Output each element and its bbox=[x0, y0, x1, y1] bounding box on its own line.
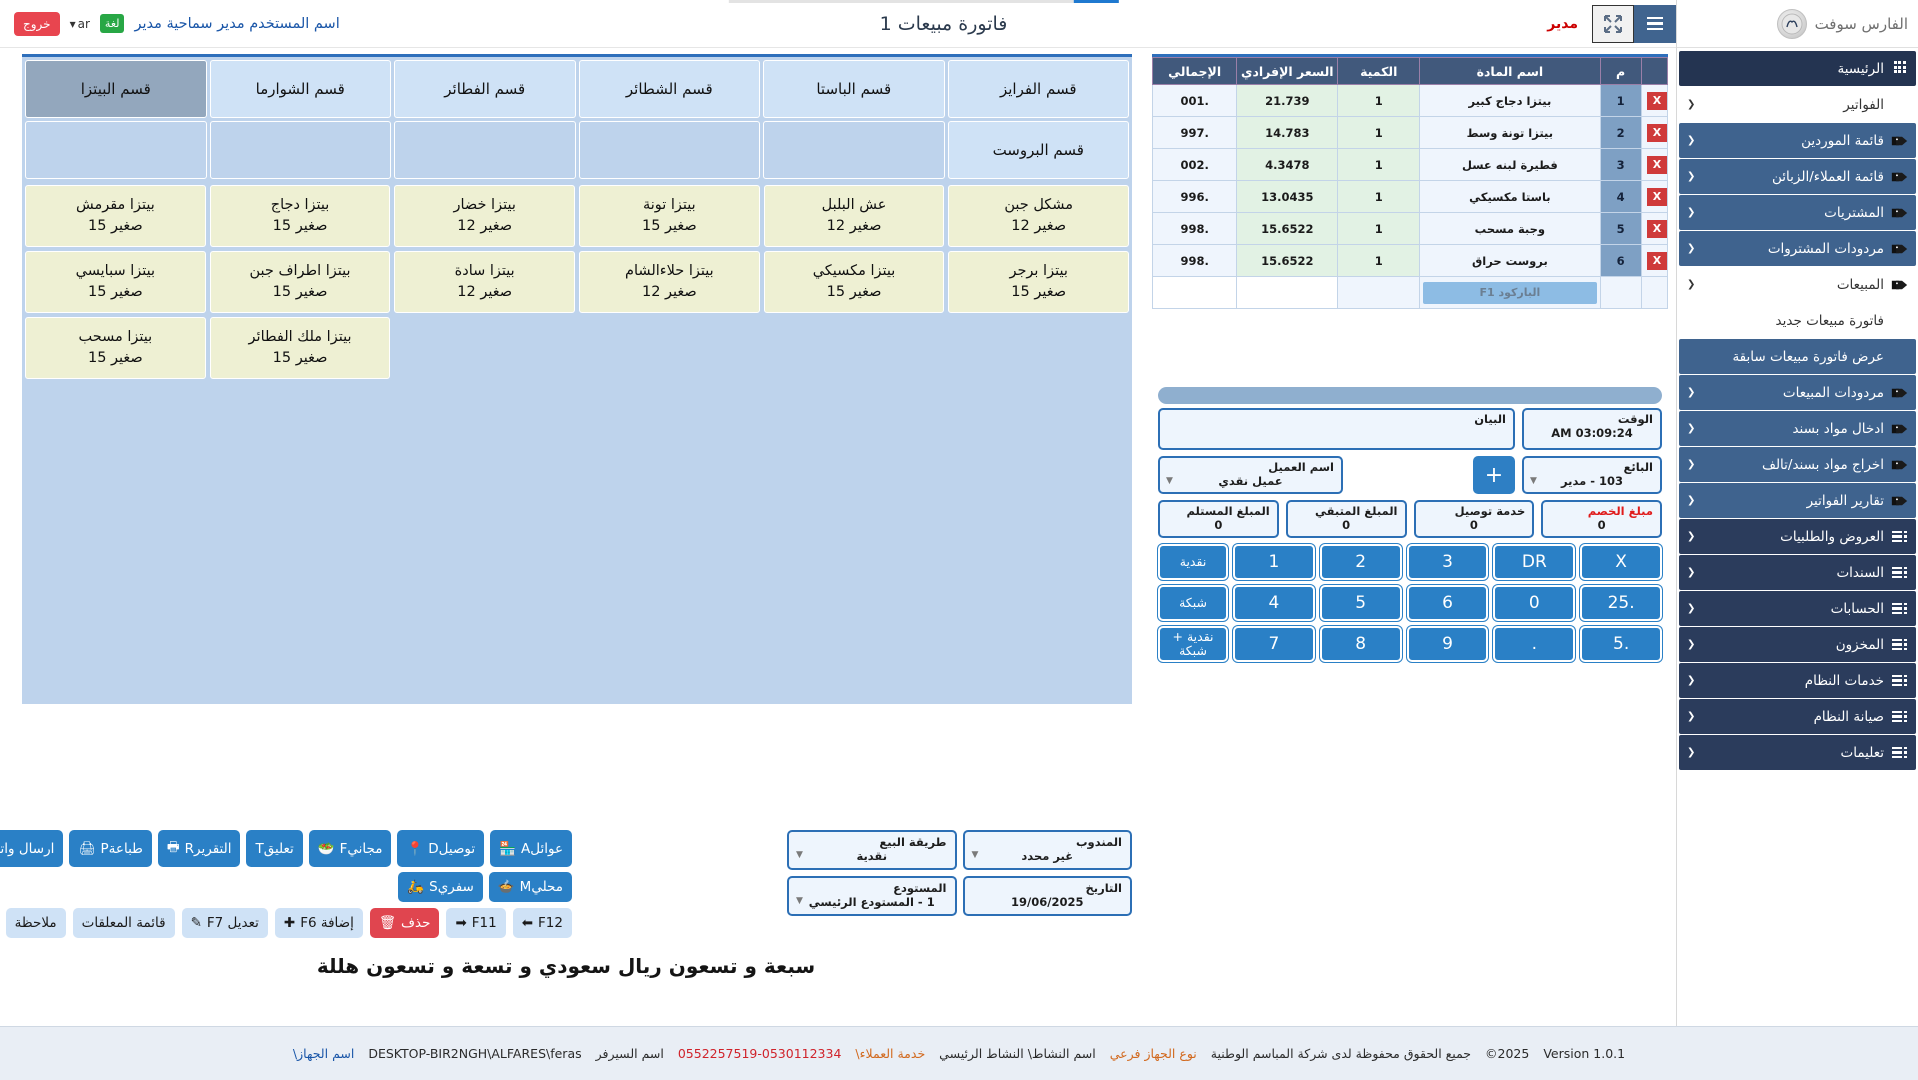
category-button-3[interactable]: قسم الفطائر bbox=[394, 60, 576, 118]
chevron-left-icon: ❮ bbox=[1687, 135, 1695, 146]
product-size: صغير 12 bbox=[457, 282, 512, 303]
product-name: بيتزا حلاءالشام bbox=[625, 261, 714, 282]
sidebar-item-label: الحسابات bbox=[1702, 601, 1884, 617]
action-button-5[interactable]: طباعةP🖨 bbox=[69, 830, 152, 867]
sidebar-item-label: السندات bbox=[1702, 565, 1884, 581]
action-label: التقريرR bbox=[185, 841, 232, 857]
action-row-secondary: محليM🍲سفريS🛵 bbox=[0, 872, 572, 902]
table-row[interactable]: X5وجبة مسحب115.6522.998 bbox=[1153, 213, 1668, 245]
tag-icon bbox=[1891, 205, 1908, 220]
cell-index: 3 bbox=[1600, 149, 1641, 181]
product-button-17[interactable]: بيتزا مسحبصغير 15 bbox=[25, 317, 206, 379]
page-title-text: فاتورة مبيعات 1 bbox=[880, 13, 1008, 35]
customer-label: اسم العميل bbox=[1167, 460, 1334, 474]
product-button-4[interactable]: بيتزا دجاجصغير 15 bbox=[210, 185, 391, 247]
no-icon bbox=[1891, 349, 1908, 364]
role-badge: مدير bbox=[1547, 16, 1578, 32]
delete-row-button[interactable]: X bbox=[1647, 252, 1667, 270]
remaining-label: المبلغ المتبقي bbox=[1295, 504, 1398, 518]
cell-qty: 1 bbox=[1338, 245, 1420, 277]
chevron-left-icon: ❮ bbox=[1687, 171, 1695, 182]
cell-total: .996 bbox=[1153, 181, 1237, 213]
action-label: حذف bbox=[401, 915, 430, 931]
product-grid: مشكل جبنصغير 12عش البلبلصغير 12بيتزا تون… bbox=[22, 182, 1132, 382]
keypad-key-1[interactable]: 1 bbox=[1233, 544, 1315, 580]
delivery-value: 0 bbox=[1423, 518, 1526, 533]
title-underline bbox=[729, 0, 1119, 3]
function-button-1[interactable]: F11➡ bbox=[446, 908, 505, 938]
footer-device-type: نوع الجهاز فرعي bbox=[1110, 1046, 1197, 1061]
product-size: صغير 15 bbox=[273, 348, 328, 369]
seller-customer-row: البائع 103 - مدير ▼ + اسم العميل عميل نق… bbox=[1158, 456, 1662, 494]
action-label: توصيلD bbox=[428, 841, 475, 857]
sidebar-item-3[interactable]: قائمة العملاء/الزبائن❮ bbox=[1679, 159, 1916, 194]
chevron-left-icon: ❮ bbox=[1687, 207, 1695, 218]
sidebar-item-13[interactable]: العروض والطلبيات❮ bbox=[1679, 519, 1916, 554]
keypad-key-0[interactable]: 0 bbox=[1493, 585, 1575, 621]
pos-application: مدير فاتورة مبيعات 1 اسم المستخدم مدير س… bbox=[0, 0, 1918, 1080]
sidebar-item-7[interactable]: فاتورة مبيعات جديد bbox=[1679, 303, 1916, 338]
action-button-4[interactable]: التقريرR🖶 bbox=[158, 830, 241, 867]
payment-mode-button-1[interactable]: شبكة bbox=[1158, 585, 1228, 621]
header-user-area: اسم المستخدم مدير سماحية مدير لغة ar ▾ خ… bbox=[0, 12, 340, 36]
expand-icon[interactable] bbox=[1592, 5, 1634, 43]
statement-time-row: الوقت AM 03:09:24 البيان bbox=[1158, 408, 1662, 450]
product-button-6[interactable]: بيتزا برجرصغير 15 bbox=[948, 251, 1129, 313]
dine-in-icon: 🍲 bbox=[498, 879, 515, 895]
cell-unit-price: 15.6522 bbox=[1237, 245, 1338, 277]
cell-item-name: باستا مكسيكي bbox=[1420, 181, 1600, 213]
function-button-4[interactable]: تعديل F7✎ bbox=[182, 908, 268, 938]
product-size: صغير 12 bbox=[457, 216, 512, 237]
table-row[interactable]: X4باستا مكسيكي113.0435.996 bbox=[1153, 181, 1668, 213]
keypad-key-6[interactable]: 6 bbox=[1407, 585, 1489, 621]
delete-cell: X bbox=[1641, 181, 1667, 213]
sidebar-item-label: المخزون bbox=[1702, 637, 1884, 653]
barcode-qty-cell bbox=[1338, 277, 1420, 309]
keypad-row-0: XDR321نقدية bbox=[1158, 544, 1662, 580]
sidebar-item-12[interactable]: تقارير الفواتير❮ bbox=[1679, 483, 1916, 518]
footer-copyright: جميع الحقوق محفوظة لدى شركة المباسم الوط… bbox=[1211, 1046, 1471, 1061]
cell-index: 4 bbox=[1600, 181, 1641, 213]
cell-item-name: بروست حراق bbox=[1420, 245, 1600, 277]
sidebar-item-17[interactable]: خدمات النظام❮ bbox=[1679, 663, 1916, 698]
keypad-key-7[interactable]: 7 bbox=[1233, 626, 1315, 662]
barcode-total-cell bbox=[1153, 277, 1237, 309]
print-icon: 🖨 bbox=[78, 841, 95, 857]
delivery-label: خدمة توصيل bbox=[1423, 504, 1526, 518]
cell-qty: 1 bbox=[1338, 181, 1420, 213]
category-tabs-row1: قسم الفرايزقسم الباستاقسم الشطائرقسم الف… bbox=[22, 57, 1132, 121]
date-field[interactable]: التاريخ 19/06/2025 bbox=[963, 876, 1133, 916]
product-name: بيتزا اطراف جبن bbox=[249, 261, 350, 282]
category-filler bbox=[394, 121, 576, 179]
product-size: صغير 15 bbox=[1011, 282, 1066, 303]
delete-cell: X bbox=[1641, 85, 1667, 117]
sidebar-item-5[interactable]: مردودات المشتروات❮ bbox=[1679, 231, 1916, 266]
category-filler bbox=[210, 121, 392, 179]
rep-value: غير محدد bbox=[973, 849, 1123, 863]
table-row[interactable]: X1بيتزا دجاج كبير121.739.001 bbox=[1153, 85, 1668, 117]
customer-value: عميل نقدي bbox=[1167, 474, 1334, 489]
product-name: مشكل جبن bbox=[1004, 195, 1073, 216]
payment-mode-button-2[interactable]: نقدية + شبكة bbox=[1158, 626, 1228, 662]
sidebar-item-15[interactable]: الحسابات❮ bbox=[1679, 591, 1916, 626]
date-label: التاريخ bbox=[973, 881, 1123, 895]
keypad-key-3[interactable]: 3 bbox=[1407, 544, 1489, 580]
sale-method-select[interactable]: طريقة البيع نقدية ▼ bbox=[787, 830, 957, 870]
bottom-toolbar-zone: المندوب غير محدد ▼ طريقة البيع نقدية ▼ ا… bbox=[0, 826, 1132, 1026]
keypad-key-2[interactable]: 2 bbox=[1320, 544, 1402, 580]
product-size: صغير 15 bbox=[88, 216, 143, 237]
category-filler bbox=[579, 121, 761, 179]
product-name: بيتزا دجاج bbox=[271, 195, 330, 216]
keypad-key-8[interactable]: 8 bbox=[1320, 626, 1402, 662]
product-size: صغير 12 bbox=[1011, 216, 1066, 237]
product-button-7[interactable]: بيتزا مكسيكيصغير 15 bbox=[764, 251, 945, 313]
chevron-down-icon: ▼ bbox=[1530, 476, 1537, 486]
cell-unit-price: 14.783 bbox=[1237, 117, 1338, 149]
payment-mode-button-0[interactable]: نقدية bbox=[1158, 544, 1228, 580]
keypad-key-.[interactable]: . bbox=[1493, 626, 1575, 662]
sidebar-item-label: المشتريات bbox=[1702, 205, 1884, 221]
th-item-name: اسم المادة bbox=[1420, 58, 1600, 85]
cell-unit-price: 15.6522 bbox=[1237, 213, 1338, 245]
discount-field[interactable]: مبلغ الخصم 0 bbox=[1541, 500, 1662, 538]
family-icon: 🏪 bbox=[499, 841, 516, 857]
table-row[interactable]: X3فطيرة لبنه عسل14.3478.002 bbox=[1153, 149, 1668, 181]
sale-method-rep-row: المندوب غير محدد ▼ طريقة البيع نقدية ▼ bbox=[787, 830, 1132, 876]
action-label: تعليقT bbox=[255, 841, 293, 857]
received-field[interactable]: المبلغ المستلم 0 bbox=[1158, 500, 1279, 538]
edit-icon: ✎ bbox=[191, 915, 202, 931]
invoice-items-table: م اسم المادة الكمية السعر الإفرادي الإجم… bbox=[1152, 57, 1668, 309]
action-label: محليM bbox=[520, 879, 563, 895]
statement-field[interactable]: البيان bbox=[1158, 408, 1515, 450]
warehouse-select[interactable]: المستودع 1 - المستودع الرئيسي ▼ bbox=[787, 876, 957, 916]
chevron-left-icon: ❮ bbox=[1687, 747, 1695, 758]
keypad-key-9[interactable]: 9 bbox=[1407, 626, 1489, 662]
cell-unit-price: 4.3478 bbox=[1237, 149, 1338, 181]
function-key-row: F12⬅F11➡حذف🗑إضافة F6✚تعديل F7✎قائمة المع… bbox=[0, 908, 572, 938]
statement-label: البيان bbox=[1167, 412, 1506, 426]
action-label: سفريS bbox=[429, 879, 474, 895]
sidebar-item-16[interactable]: المخزون❮ bbox=[1679, 627, 1916, 662]
category-filler bbox=[763, 121, 945, 179]
chevron-left-icon: ❮ bbox=[1687, 495, 1695, 506]
sidebar-item-6[interactable]: المبيعات❮ bbox=[1679, 267, 1916, 302]
invoice-settings-form: المندوب غير محدد ▼ طريقة البيع نقدية ▼ ا… bbox=[787, 830, 1132, 922]
list-icon bbox=[1891, 637, 1908, 652]
action-label: ارسال واتساب bbox=[0, 841, 54, 857]
product-name: بيتزا تونة bbox=[643, 195, 696, 216]
cell-item-name: بيتزا تونة وسط bbox=[1420, 117, 1600, 149]
seller-value: 103 - مدير bbox=[1531, 474, 1653, 489]
top-header-bar: مدير فاتورة مبيعات 1 اسم المستخدم مدير س… bbox=[0, 0, 1676, 48]
product-size: صغير 12 bbox=[642, 282, 697, 303]
seller-label: البائع bbox=[1531, 460, 1653, 474]
product-button-2[interactable]: بيتزا تونةصغير 15 bbox=[579, 185, 760, 247]
cell-index: 2 bbox=[1600, 117, 1641, 149]
action-label: ملاحظة bbox=[15, 915, 57, 931]
barcode-input-cell[interactable]: الباركود F1 bbox=[1420, 277, 1600, 309]
customer-select[interactable]: اسم العميل عميل نقدي ▼ bbox=[1158, 456, 1343, 494]
action-button-3[interactable]: تعليقT bbox=[246, 830, 302, 867]
keypad-key-.5[interactable]: .5 bbox=[1580, 626, 1662, 662]
keypad-key-X[interactable]: X bbox=[1580, 544, 1662, 580]
table-row[interactable]: X2بيتزا تونة وسط114.783.997 bbox=[1153, 117, 1668, 149]
keypad-row-2: .5.987نقدية + شبكة bbox=[1158, 626, 1662, 662]
th-index: م bbox=[1600, 58, 1641, 85]
product-name: بيتزا سبايسي bbox=[76, 261, 155, 282]
brand-header: الفارس سوفت bbox=[1677, 0, 1918, 48]
cell-total: .998 bbox=[1153, 245, 1237, 277]
category-button-2[interactable]: قسم الشطائر bbox=[579, 60, 761, 118]
received-label: المبلغ المستلم bbox=[1167, 504, 1270, 518]
footer-version-text: Version 1.0.1 bbox=[1543, 1046, 1625, 1061]
delete-row-button[interactable]: X bbox=[1647, 156, 1667, 174]
cell-qty: 1 bbox=[1338, 149, 1420, 181]
numeric-keypad: XDR321نقدية.250654شبكة.5.987نقدية + شبكة bbox=[1158, 544, 1662, 662]
barcode-spacer bbox=[1641, 277, 1667, 309]
product-name: بيتزا مقرمش bbox=[76, 195, 155, 216]
date-value: 19/06/2025 bbox=[973, 895, 1123, 909]
warehouse-label: المستودع bbox=[797, 881, 947, 895]
list-icon bbox=[1891, 745, 1908, 760]
chevron-left-icon: ❮ bbox=[1687, 387, 1695, 398]
remaining-field: المبلغ المتبقي 0 bbox=[1286, 500, 1407, 538]
chevron-left-icon: ❮ bbox=[1687, 603, 1695, 614]
category-button-6[interactable]: قسم البروست bbox=[948, 121, 1130, 179]
delete-row-button[interactable]: X bbox=[1647, 188, 1667, 206]
language-badge[interactable]: لغة bbox=[100, 14, 125, 33]
sidebar-item-14[interactable]: السندات❮ bbox=[1679, 555, 1916, 590]
sidebar: الفارس سوفت الرئيسيةالفواتير❮قائمة المور… bbox=[1676, 0, 1918, 1026]
tag-icon bbox=[1891, 457, 1908, 472]
sidebar-item-19[interactable]: تعليمات❮ bbox=[1679, 735, 1916, 770]
function-button-0[interactable]: F12⬅ bbox=[513, 908, 572, 938]
category-tabs-row2: قسم البروست bbox=[22, 121, 1132, 182]
keypad-key-DR[interactable]: DR bbox=[1493, 544, 1575, 580]
chevron-down-icon: ▼ bbox=[796, 896, 803, 906]
keypad-key-4[interactable]: 4 bbox=[1233, 585, 1315, 621]
tag-icon bbox=[1891, 493, 1908, 508]
barcode-price-cell bbox=[1237, 277, 1338, 309]
delete-row-button[interactable]: X bbox=[1647, 220, 1667, 238]
product-button-11[interactable]: بيتزا سبايسيصغير 15 bbox=[25, 251, 206, 313]
chevron-down-icon: ▼ bbox=[1166, 476, 1173, 486]
category-filler bbox=[25, 121, 207, 179]
th-qty: الكمية bbox=[1338, 58, 1420, 85]
keypad-key-5[interactable]: 5 bbox=[1320, 585, 1402, 621]
product-button-0[interactable]: مشكل جبنصغير 12 bbox=[948, 185, 1129, 247]
sidebar-item-label: خدمات النظام bbox=[1702, 673, 1884, 689]
sidebar-item-label: قائمة الموردين bbox=[1702, 133, 1884, 149]
chevron-down-icon: ▼ bbox=[972, 850, 979, 860]
chevron-down-icon: ▾ bbox=[70, 17, 76, 31]
sidebar-item-10[interactable]: ادخال مواد بسند❮ bbox=[1679, 411, 1916, 446]
discount-label: مبلغ الخصم bbox=[1550, 504, 1653, 518]
product-size: صغير 15 bbox=[273, 282, 328, 303]
product-name: بيتزا خضار bbox=[453, 195, 515, 216]
delete-row-button[interactable]: X bbox=[1647, 124, 1667, 142]
chevron-left-icon: ❮ bbox=[1687, 243, 1695, 254]
sidebar-item-label: العروض والطلبيات bbox=[1702, 529, 1884, 545]
product-button-1[interactable]: عش البلبلصغير 12 bbox=[764, 185, 945, 247]
sidebar-item-9[interactable]: مردودات المبيعات❮ bbox=[1679, 375, 1916, 410]
keypad-key-.25[interactable]: .25 bbox=[1580, 585, 1662, 621]
footer-server-label: اسم السيرفر bbox=[596, 1046, 664, 1061]
received-value: 0 bbox=[1167, 518, 1270, 533]
sidebar-item-1[interactable]: الفواتير❮ bbox=[1679, 87, 1916, 122]
function-button-3[interactable]: إضافة F6✚ bbox=[275, 908, 363, 938]
chevron-left-icon: ❮ bbox=[1687, 567, 1695, 578]
action-label: عوائلA bbox=[521, 841, 563, 857]
function-button-6[interactable]: ملاحظة bbox=[6, 908, 66, 938]
category-button-0[interactable]: قسم الفرايز bbox=[948, 60, 1130, 118]
sidebar-nav: الرئيسيةالفواتير❮قائمة الموردين❮قائمة ال… bbox=[1677, 48, 1918, 1026]
action-button-6[interactable]: ارسال واتساب🖨 bbox=[0, 830, 63, 867]
cell-total: .998 bbox=[1153, 213, 1237, 245]
function-button-2[interactable]: حذف🗑 bbox=[370, 908, 440, 938]
chevron-left-icon: ❮ bbox=[1687, 711, 1695, 722]
action-label: مجانيF bbox=[340, 841, 383, 857]
product-size: صغير 15 bbox=[88, 282, 143, 303]
order-type-button-0[interactable]: محليM🍲 bbox=[489, 872, 572, 902]
products-panel: قسم الفرايزقسم الباستاقسم الشطائرقسم الف… bbox=[22, 54, 1132, 704]
product-size: صغير 15 bbox=[88, 348, 143, 369]
action-row-primary: عوائلA🏪توصيلD📍مجانيF🥗تعليقTالتقريرR🖶طباع… bbox=[0, 830, 572, 867]
sidebar-item-label: ادخال مواد بسند bbox=[1702, 421, 1884, 437]
category-button-4[interactable]: قسم الشوارما bbox=[210, 60, 392, 118]
footer-support-label: خدمة العملاء\ bbox=[855, 1046, 925, 1061]
th-total: الإجمالي bbox=[1153, 58, 1237, 85]
menu-icon[interactable] bbox=[1634, 5, 1676, 43]
sidebar-item-label: عرض فاتورة مبيعات سابقة bbox=[1687, 349, 1884, 365]
action-label: F11 bbox=[472, 915, 497, 931]
chevron-left-icon: ❮ bbox=[1687, 531, 1695, 542]
plus-icon: ✚ bbox=[284, 915, 295, 931]
cell-qty: 1 bbox=[1338, 117, 1420, 149]
product-name: بيتزا ملك الفطائر bbox=[249, 327, 352, 348]
grid-icon bbox=[1891, 61, 1908, 76]
amount-in-words: سبعة و تسعون ريال سعودي و تسعة و تسعون ه… bbox=[0, 954, 1132, 978]
cell-unit-price: 13.0435 bbox=[1237, 181, 1338, 213]
table-row[interactable]: X6بروست حراق115.6522.998 bbox=[1153, 245, 1668, 277]
invoice-items-table-wrap: م اسم المادة الكمية السعر الإفرادي الإجم… bbox=[1152, 54, 1668, 309]
cell-index: 6 bbox=[1600, 245, 1641, 277]
barcode-entry-row[interactable]: الباركود F1 bbox=[1153, 277, 1668, 309]
footer-device-name: اسم الجهاز\ bbox=[293, 1046, 354, 1061]
product-button-10[interactable]: بيتزا اطراف جبنصغير 15 bbox=[210, 251, 391, 313]
rep-label: المندوب bbox=[973, 835, 1123, 849]
product-button-5[interactable]: بيتزا مقرمشصغير 15 bbox=[25, 185, 206, 247]
chevron-left-icon: ❮ bbox=[1687, 675, 1695, 686]
amounts-row: مبلغ الخصم 0 خدمة توصيل 0 المبلغ المتبقي… bbox=[1158, 500, 1662, 538]
sidebar-item-8[interactable]: عرض فاتورة مبيعات سابقة bbox=[1679, 339, 1916, 374]
delivery-field[interactable]: خدمة توصيل 0 bbox=[1414, 500, 1535, 538]
sidebar-item-label: الفواتير bbox=[1702, 97, 1884, 113]
action-button-1[interactable]: توصيلD📍 bbox=[397, 830, 484, 867]
sidebar-item-2[interactable]: قائمة الموردين❮ bbox=[1679, 123, 1916, 158]
takeaway-icon: 🛵 bbox=[407, 879, 424, 895]
product-name: عش البلبل bbox=[822, 195, 887, 216]
cell-index: 5 bbox=[1600, 213, 1641, 245]
action-label: قائمة المعلقات bbox=[82, 915, 166, 931]
product-name: بيتزا مكسيكي bbox=[813, 261, 896, 282]
sale-method-label: طريقة البيع bbox=[797, 835, 947, 849]
sidebar-item-0[interactable]: الرئيسية bbox=[1679, 51, 1916, 86]
brand-logo-icon bbox=[1777, 9, 1807, 39]
product-button-9[interactable]: بيتزا سادةصغير 12 bbox=[394, 251, 575, 313]
tag-icon bbox=[1891, 277, 1908, 292]
language-code: ar bbox=[78, 17, 90, 31]
category-button-1[interactable]: قسم الباستا bbox=[763, 60, 945, 118]
sidebar-item-18[interactable]: صيانة النظام❮ bbox=[1679, 699, 1916, 734]
product-size: صغير 15 bbox=[827, 282, 882, 303]
product-name: بيتزا سادة bbox=[455, 261, 515, 282]
function-button-5[interactable]: قائمة المعلقات bbox=[73, 908, 175, 938]
list-icon bbox=[1891, 709, 1908, 724]
chevron-left-icon: ❮ bbox=[1687, 639, 1695, 650]
chevron-left-icon: ❮ bbox=[1687, 459, 1695, 470]
action-buttons-cluster: عوائلA🏪توصيلD📍مجانيF🥗تعليقTالتقريرR🖶طباع… bbox=[0, 830, 572, 938]
action-button-0[interactable]: عوائلA🏪 bbox=[490, 830, 572, 867]
product-button-16[interactable]: بيتزا ملك الفطائرصغير 15 bbox=[210, 317, 391, 379]
footer-support-phone: 0552257519-0530112334 bbox=[678, 1046, 842, 1061]
action-label: F12 bbox=[538, 915, 563, 931]
language-selector[interactable]: ar ▾ bbox=[70, 17, 90, 31]
rep-select[interactable]: المندوب غير محدد ▼ bbox=[963, 830, 1133, 870]
delivery-pin-icon: 📍 bbox=[406, 841, 423, 857]
seller-select[interactable]: البائع 103 - مدير ▼ bbox=[1522, 456, 1662, 494]
product-size: صغير 15 bbox=[642, 216, 697, 237]
action-button-2[interactable]: مجانيF🥗 bbox=[309, 830, 392, 867]
brand-name: الفارس سوفت bbox=[1815, 15, 1908, 33]
cell-index: 1 bbox=[1600, 85, 1641, 117]
sidebar-item-label: فاتورة مبيعات جديد bbox=[1687, 313, 1884, 329]
arrow-left-icon: ⬅ bbox=[522, 915, 533, 931]
product-name: بيتزا مسحب bbox=[78, 327, 152, 348]
sidebar-item-11[interactable]: اخراج مواد بسند/تالف❮ bbox=[1679, 447, 1916, 482]
footer-year: 2025© bbox=[1485, 1046, 1529, 1061]
category-button-5[interactable]: قسم البيتزا bbox=[25, 60, 207, 118]
list-icon bbox=[1891, 673, 1908, 688]
product-button-8[interactable]: بيتزا حلاءالشامصغير 12 bbox=[579, 251, 760, 313]
action-label: تعديل F7 bbox=[207, 915, 259, 931]
logout-button[interactable]: خروج bbox=[14, 12, 60, 36]
username-label: اسم المستخدم مدير سماحية مدير bbox=[134, 16, 339, 32]
product-size: صغير 12 bbox=[827, 216, 882, 237]
header-left-controls bbox=[1592, 0, 1676, 47]
tag-icon bbox=[1891, 241, 1908, 256]
add-customer-button[interactable]: + bbox=[1473, 456, 1515, 494]
barcode-input[interactable]: الباركود F1 bbox=[1423, 282, 1596, 304]
footer-version: Version 1.0.1 bbox=[1543, 1046, 1625, 1061]
order-type-button-1[interactable]: سفريS🛵 bbox=[398, 872, 483, 902]
main-content: قسم الفرايزقسم الباستاقسم الشطائرقسم الف… bbox=[0, 48, 1676, 1026]
th-spacer bbox=[1641, 58, 1667, 85]
sidebar-item-4[interactable]: المشتريات❮ bbox=[1679, 195, 1916, 230]
product-button-3[interactable]: بيتزا خضارصغير 12 bbox=[394, 185, 575, 247]
table-header-row: م اسم المادة الكمية السعر الإفرادي الإجم… bbox=[1153, 58, 1668, 85]
chevron-left-icon: ❮ bbox=[1687, 423, 1695, 434]
action-label: إضافة F6 bbox=[300, 915, 354, 931]
product-size: صغير 15 bbox=[273, 216, 328, 237]
footer-bar: Version 1.0.1 2025© جميع الحقوق محفوظة ل… bbox=[0, 1026, 1918, 1080]
sidebar-item-label: المبيعات bbox=[1702, 277, 1884, 293]
delete-row-button[interactable]: X bbox=[1647, 92, 1667, 110]
